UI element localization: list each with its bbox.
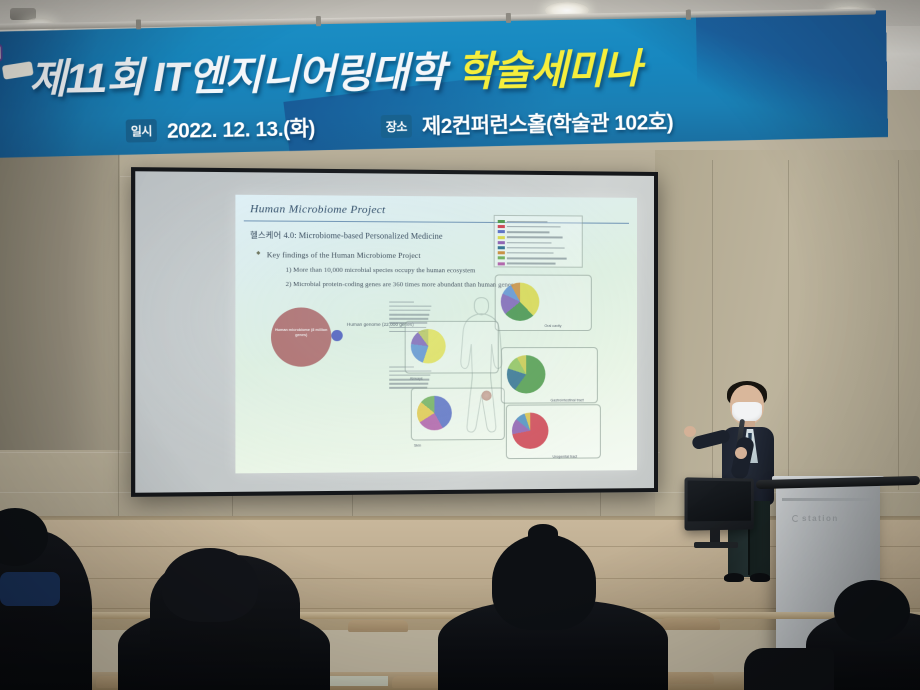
legend-swatch	[498, 241, 505, 244]
slide-title: Human Microbiome Project	[250, 203, 385, 216]
legend-row	[498, 230, 579, 233]
wall-seam	[898, 160, 899, 490]
slide-subtitle: 헬스케어 4.0: Microbiome-based Personalized …	[250, 230, 443, 242]
monitor-screen	[688, 480, 751, 521]
banner-date-text: 2022. 12. 13.(화)	[167, 112, 315, 145]
legend-label-line	[507, 226, 561, 228]
genome-circle	[331, 330, 342, 341]
diagram-text-line	[389, 310, 430, 311]
screen-surface: Human Microbiome Project 헬스케어 4.0: Micro…	[135, 171, 654, 492]
banner-date-chip: 일시	[126, 119, 157, 143]
speaker-shoe	[724, 573, 744, 582]
legend-swatch	[498, 251, 505, 254]
pie-chart	[507, 355, 546, 393]
banner-title-accent: 학술세미나	[456, 35, 641, 98]
legend-label-line	[507, 263, 556, 265]
projection-screen: Human Microbiome Project 헬스케어 4.0: Micro…	[131, 167, 658, 497]
banner-spacer	[325, 126, 371, 127]
legend-label-line	[507, 242, 552, 244]
legend-row	[498, 257, 579, 260]
legend-label-line	[507, 221, 548, 223]
audience-head	[834, 580, 910, 642]
pie-chart	[411, 329, 446, 363]
slide-bullet: Key findings of the Human Microbiome Pro…	[267, 250, 421, 260]
presentation-slide: Human Microbiome Project 헬스케어 4.0: Micro…	[235, 195, 637, 474]
pie-caption: Oral cavity	[544, 324, 600, 329]
podium-brand-text: station	[802, 514, 839, 523]
slide-item: 1) More than 10,000 microbial species oc…	[286, 267, 476, 275]
banner-clip	[136, 19, 141, 29]
wall-seam	[118, 150, 119, 520]
pie-caption: Airways	[410, 376, 467, 381]
diagram-text-line	[389, 383, 428, 384]
legend-swatch	[498, 225, 505, 228]
legend-label-line	[507, 237, 563, 239]
speaker-right-hand	[735, 447, 747, 459]
pie-chart	[417, 396, 452, 431]
legend-label-line	[507, 247, 565, 249]
legend-row	[498, 251, 579, 254]
legend-row	[498, 220, 579, 224]
legend-row	[498, 246, 579, 249]
diagram-legend	[494, 215, 583, 268]
legend-row	[498, 225, 579, 229]
microbiome-circle-label: Human microbiome (8 million genes)	[273, 328, 329, 339]
monitor-base	[694, 542, 738, 548]
podium-groove	[782, 498, 874, 501]
legend-row	[498, 262, 579, 265]
audience-collar	[0, 572, 60, 606]
podium-brand-icon	[792, 515, 799, 522]
legend-label-line	[507, 252, 554, 254]
speaker-shoe	[750, 573, 770, 582]
audience-head	[492, 534, 596, 630]
seminar-photo-scene: Human Microbiome Project 헬스케어 4.0: Micro…	[0, 0, 920, 690]
audience-shoulder	[744, 648, 834, 690]
logo-mark-icon	[0, 44, 3, 62]
banner-title-main: 제11회 IT엔지니어링대학	[28, 38, 445, 105]
legend-label-line	[507, 258, 567, 260]
pie-caption: Skin	[414, 443, 471, 448]
chair	[348, 620, 408, 632]
legend-swatch	[498, 257, 505, 260]
diagram-text-line	[389, 314, 429, 315]
diagram-text-line	[389, 306, 431, 307]
speaker-left-hand	[684, 426, 696, 437]
legend-label-line	[507, 231, 550, 233]
audience-hair-tuft	[528, 524, 558, 542]
diagram-text-line	[389, 302, 414, 303]
legend-swatch	[498, 230, 505, 233]
chair	[660, 618, 720, 630]
podium-brand: station	[792, 512, 872, 524]
face-mask-icon	[732, 402, 762, 423]
legend-swatch	[498, 246, 505, 249]
legend-swatch	[498, 262, 505, 265]
legend-swatch	[498, 236, 505, 239]
banner-place-chip: 장소	[381, 114, 412, 138]
pie-chart	[512, 413, 548, 449]
pie-caption: Urogenital tract	[552, 454, 608, 459]
audience-head	[162, 548, 258, 622]
confidence-monitor	[685, 477, 754, 530]
banner-place-text: 제2컨퍼런스홀(학술관 102호)	[422, 106, 674, 140]
left-wall-panel	[0, 150, 120, 450]
event-banner: 제11회 IT엔지니어링대학 학술세미나 일시 2022. 12. 13.(화)…	[0, 10, 888, 166]
legend-row	[498, 241, 579, 244]
pie-caption: Gastrointestinal tract	[550, 398, 606, 403]
banner-clip	[316, 16, 321, 26]
banner-clip	[506, 13, 511, 23]
diagram-text-line	[389, 318, 428, 319]
legend-row	[498, 236, 579, 239]
slide-item: 2) Microbial protein-coding genes are 36…	[286, 281, 514, 289]
pie-chart	[501, 283, 540, 321]
legend-swatch	[498, 220, 505, 223]
banner-clip	[686, 10, 691, 20]
